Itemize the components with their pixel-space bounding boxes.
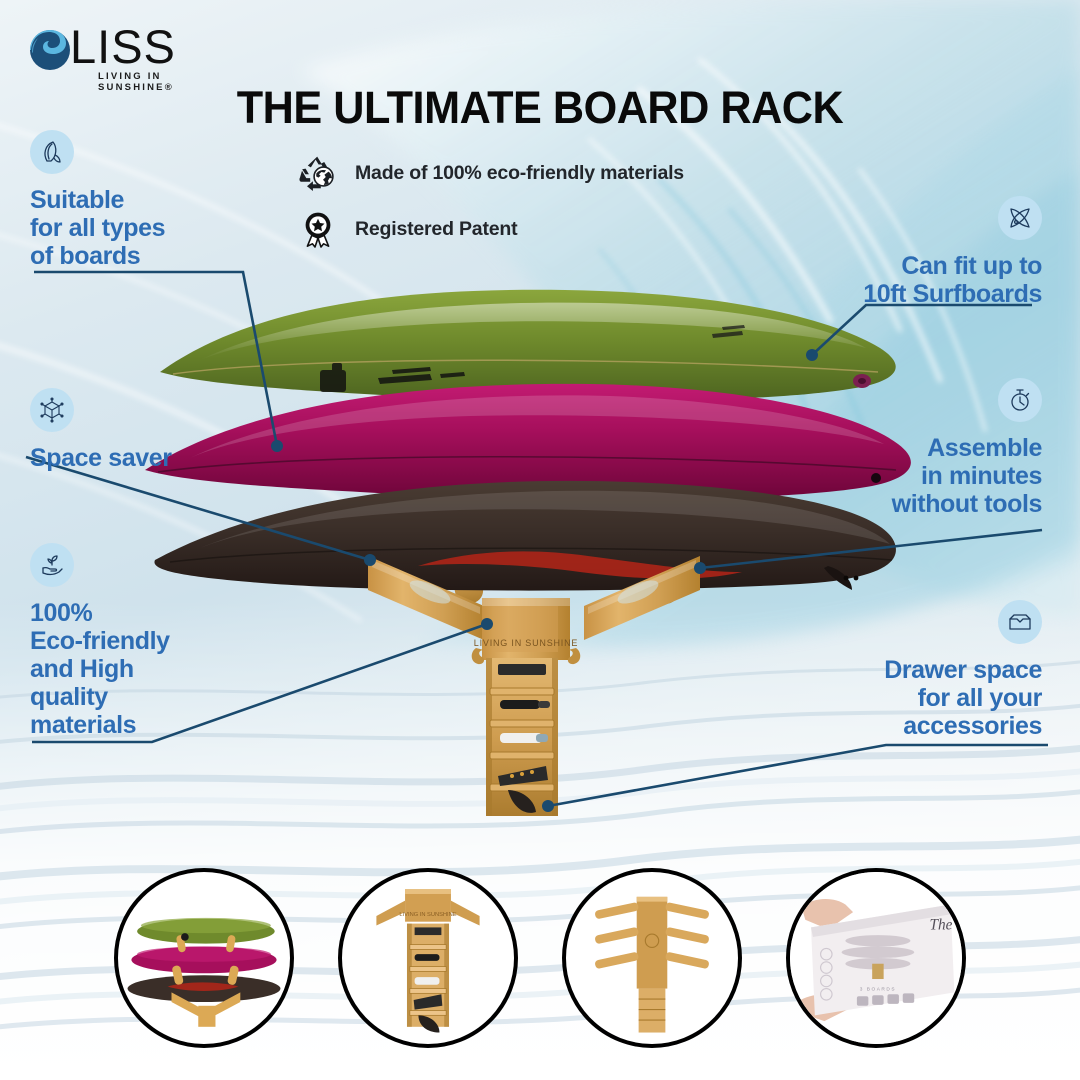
feature-label: 100%Eco-friendlyand Highqualitymaterials xyxy=(30,599,245,739)
feature-fits-10ft-surfboards: Can fit up to10ft Surfboards xyxy=(827,196,1042,308)
thumb-accessory-drawer[interactable]: LIVING IN SUNSHINE xyxy=(338,868,518,1048)
feature-space-saver: Space saver xyxy=(30,388,240,472)
feature-label: Space saver xyxy=(30,444,240,472)
recycle-globe-icon xyxy=(297,152,339,194)
feature-label: Suitablefor all typesof boards xyxy=(30,186,240,270)
stopwatch-icon xyxy=(998,378,1042,422)
open-drawer-icon xyxy=(998,600,1042,644)
thumbnail-strip: LIVING IN SUNSHINE xyxy=(0,868,1080,1058)
rack-bracket: LIVING IN SUNSHINE xyxy=(368,556,700,816)
feature-assemble-without-tools: Assemblein minuteswithout tools xyxy=(827,378,1042,518)
badge-registered-patent: Registered Patent xyxy=(297,208,684,250)
feature-label: Assemblein minuteswithout tools xyxy=(827,434,1042,518)
wave-circle-icon xyxy=(26,26,74,74)
badge-eco-materials: Made of 100% eco-friendly materials xyxy=(297,152,684,194)
brand-name: LISS xyxy=(70,22,176,72)
hand-plant-icon xyxy=(30,543,74,587)
badge-list: Made of 100% eco-friendly materials Regi… xyxy=(297,152,684,264)
badge-label: Registered Patent xyxy=(355,218,517,241)
page-title: THE ULTIMATE BOARD RACK xyxy=(22,82,1059,134)
thumb-product-box-in-hands[interactable]: 3 BOARDS The xyxy=(786,868,966,1048)
bottom-board xyxy=(154,481,895,591)
thumb-three-boards-stacked[interactable] xyxy=(114,868,294,1048)
crossed-surfboards-icon xyxy=(998,196,1042,240)
feature-label: Can fit up to10ft Surfboards xyxy=(827,252,1042,308)
feature-drawer-space: Drawer spacefor all youraccessories xyxy=(817,600,1042,740)
badge-label: Made of 100% eco-friendly materials xyxy=(355,162,684,185)
feature-eco-friendly-materials: 100%Eco-friendlyand Highqualitymaterials xyxy=(30,543,245,739)
rack-engraving-text: LIVING IN SUNSHINE xyxy=(474,638,578,648)
thumb-rack-front-view[interactable] xyxy=(562,868,742,1048)
feature-label: Drawer spacefor all youraccessories xyxy=(817,656,1042,740)
brand-logo: LISS LIVING IN SUNSHINE® xyxy=(26,22,201,84)
cube-wireframe-icon xyxy=(30,388,74,432)
surfboard-icon xyxy=(30,130,74,174)
svg-text:3 BOARDS: 3 BOARDS xyxy=(860,986,896,992)
svg-text:LIVING IN SUNSHINE: LIVING IN SUNSHINE xyxy=(399,912,456,918)
svg-text:The: The xyxy=(930,916,953,933)
feature-suitable-for-all-boards: Suitablefor all typesof boards xyxy=(30,130,240,270)
award-ribbon-icon xyxy=(297,208,339,250)
